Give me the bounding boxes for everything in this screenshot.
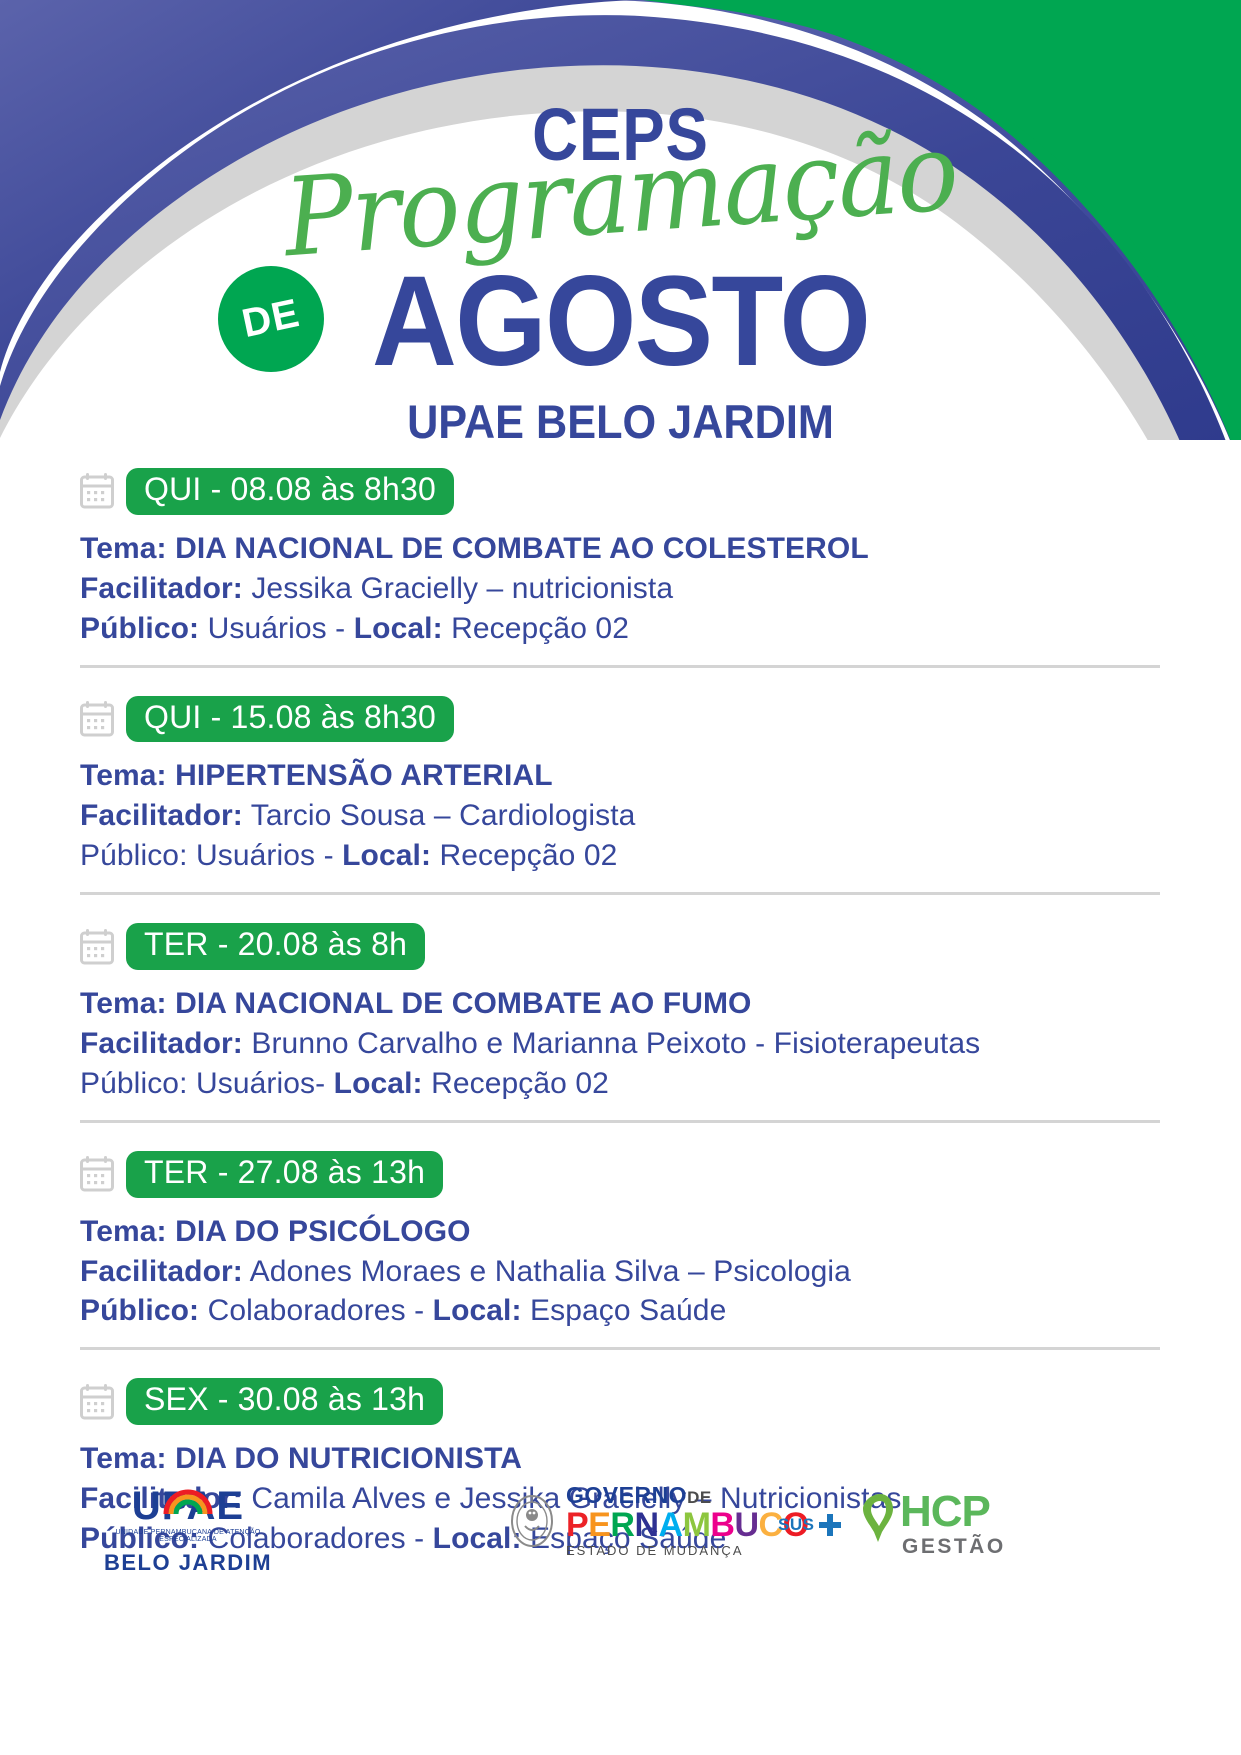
event-header: QUI - 08.08 às 8h30 (80, 468, 1160, 515)
governo-line1: GOVERNODE (566, 1484, 809, 1507)
publico-label: Público: (80, 1294, 199, 1327)
publico-label: Público: (80, 612, 199, 645)
upae-wordmark: UPAE (132, 1486, 244, 1526)
pernambuco-letter: N (634, 1506, 658, 1544)
event-item: QUI - 15.08 às 8h30 Tema: HIPERTENSÃO AR… (80, 696, 1160, 924)
local-value: Espaço Saúde (530, 1294, 726, 1327)
upae-logo: UPAE UNIDADE PERNAMBUCANA DE ATENÇÃO ESP… (88, 1486, 288, 1574)
event-item: QUI - 08.08 às 8h30 Tema: DIA NACIONAL D… (80, 468, 1160, 696)
unit-name: UPAE BELO JARDIM (50, 398, 1192, 445)
governo-slogan: ESTADO DE MUDANÇA (566, 1544, 809, 1557)
governo-pernambuco-logo: GOVERNODE PERNAMBUCO ESTADO DE MUDANÇA (508, 1484, 809, 1557)
event-header: TER - 20.08 às 8h (80, 923, 1160, 970)
local-value: Recepção 02 (440, 839, 618, 872)
calendar-icon (80, 1384, 114, 1420)
pernambuco-letter: M (683, 1506, 711, 1544)
publico-label: Público: (80, 839, 188, 872)
hcp-wordmark: HCP (900, 1490, 1006, 1534)
event-facilitador-line: Facilitador: Adones Moraes e Nathalia Si… (80, 1252, 1160, 1292)
event-tema-line: Tema: DIA NACIONAL DE COMBATE AO COLESTE… (80, 529, 1160, 569)
event-publico-line: Público: Usuários - Local: Recepção 02 (80, 609, 1160, 649)
event-divider (80, 1120, 1160, 1123)
tema-label: Tema: (80, 987, 167, 1020)
calendar-icon (80, 1156, 114, 1192)
pernambuco-letter: R (610, 1506, 634, 1544)
facilitador-value: Jessika Gracielly – nutricionista (251, 572, 673, 605)
tema-value: DIA NACIONAL DE COMBATE AO FUMO (175, 987, 751, 1020)
state-seal-icon (508, 1493, 556, 1549)
governo-word: GOVERNO (566, 1482, 687, 1508)
event-header: TER - 27.08 às 13h (80, 1151, 1160, 1198)
event-facilitador-line: Facilitador: Tarcio Sousa – Cardiologist… (80, 796, 1160, 836)
event-publico-line: Público: Usuários- Local: Recepção 02 (80, 1064, 1160, 1104)
governo-de: DE (687, 1488, 712, 1507)
tema-label: Tema: (80, 1442, 167, 1475)
tema-label: Tema: (80, 532, 167, 565)
local-value: Recepção 02 (431, 1067, 609, 1100)
event-tema-line: Tema: DIA DO NUTRICIONISTA (80, 1439, 1160, 1479)
event-item: TER - 20.08 às 8h Tema: DIA NACIONAL DE … (80, 923, 1160, 1151)
event-header: QUI - 15.08 às 8h30 (80, 696, 1160, 743)
calendar-icon (80, 473, 114, 509)
event-date-pill: SEX - 30.08 às 13h (126, 1378, 443, 1425)
pernambuco-letter: E (588, 1506, 610, 1544)
tema-value: DIA DO NUTRICIONISTA (175, 1442, 522, 1475)
tema-value: DIA DO PSICÓLOGO (175, 1215, 471, 1248)
pernambuco-letter: P (566, 1506, 588, 1544)
facilitador-label: Facilitador: (80, 1027, 243, 1060)
facilitador-value: Adones Moraes e Nathalia Silva – Psicolo… (250, 1255, 851, 1288)
calendar-icon (80, 929, 114, 965)
event-divider (80, 892, 1160, 895)
local-label: Local: (354, 612, 443, 645)
upae-tagline: UNIDADE PERNAMBUCANA DE ATENÇÃO ESPECIAL… (88, 1529, 288, 1543)
event-facilitador-line: Facilitador: Jessika Gracielly – nutrici… (80, 569, 1160, 609)
tema-label: Tema: (80, 1215, 167, 1248)
poster-header: CEPS Programação DE AGOSTO UPAE BELO JAR… (0, 0, 1241, 460)
facilitador-value: Brunno Carvalho e Marianna Peixoto - Fis… (251, 1027, 980, 1060)
local-value: Recepção 02 (451, 612, 629, 645)
sus-logo: SUS (778, 1512, 843, 1538)
pernambuco-letter: B (710, 1506, 734, 1544)
sus-label: SUS (778, 1515, 814, 1535)
publico-value: Colaboradores - (208, 1294, 433, 1327)
event-date-pill: QUI - 08.08 às 8h30 (126, 468, 454, 515)
event-date-pill: TER - 27.08 às 13h (126, 1151, 443, 1198)
event-publico-line: Público: Colaboradores - Local: Espaço S… (80, 1291, 1160, 1331)
event-tema-line: Tema: HIPERTENSÃO ARTERIAL (80, 756, 1160, 796)
tema-label: Tema: (80, 759, 167, 792)
local-label: Local: (433, 1294, 522, 1327)
local-label: Local: (342, 839, 431, 872)
publico-value: Usuários- (196, 1067, 334, 1100)
pernambuco-letter: U (734, 1506, 758, 1544)
ribbon-icon (862, 1492, 898, 1544)
footer-logos: UPAE UNIDADE PERNAMBUCANA DE ATENÇÃO ESP… (0, 1478, 1241, 1598)
event-item: TER - 27.08 às 13h Tema: DIA DO PSICÓLOG… (80, 1151, 1160, 1379)
tema-value: HIPERTENSÃO ARTERIAL (175, 759, 553, 792)
event-divider (80, 1347, 1160, 1350)
tema-value: DIA NACIONAL DE COMBATE AO COLESTEROL (175, 532, 869, 565)
event-date-pill: TER - 20.08 às 8h (126, 923, 425, 970)
events-list: QUI - 08.08 às 8h30 Tema: DIA NACIONAL D… (80, 468, 1160, 1573)
governo-text: GOVERNODE PERNAMBUCO ESTADO DE MUDANÇA (566, 1484, 809, 1557)
pernambuco-letter: A (659, 1506, 683, 1544)
event-tema-line: Tema: DIA DO PSICÓLOGO (80, 1212, 1160, 1252)
facilitador-value: Tarcio Sousa – Cardiologista (251, 799, 636, 832)
publico-value: Usuários - (208, 612, 354, 645)
event-header: SEX - 30.08 às 13h (80, 1378, 1160, 1425)
facilitador-label: Facilitador: (80, 572, 243, 605)
publico-value: Usuários - (196, 839, 342, 872)
event-date-pill: QUI - 15.08 às 8h30 (126, 696, 454, 743)
hcp-subtitle: GESTÃO (902, 1536, 1006, 1557)
pernambuco-wordmark: PERNAMBUCO (566, 1508, 809, 1542)
month-title: AGOSTO (50, 258, 1192, 386)
rainbow-arc-icon (162, 1488, 214, 1514)
publico-label: Público: (80, 1067, 188, 1100)
facilitador-label: Facilitador: (80, 1255, 243, 1288)
event-tema-line: Tema: DIA NACIONAL DE COMBATE AO FUMO (80, 984, 1160, 1024)
cross-icon (817, 1512, 843, 1538)
hcp-gestao-logo: HCP GESTÃO (862, 1490, 1006, 1557)
local-label: Local: (334, 1067, 423, 1100)
facilitador-label: Facilitador: (80, 799, 243, 832)
hcp-text: HCP GESTÃO (900, 1490, 1006, 1557)
event-divider (80, 665, 1160, 668)
upae-city: BELO JARDIM (88, 1552, 288, 1574)
event-publico-line: Público: Usuários - Local: Recepção 02 (80, 836, 1160, 876)
poster-root: CEPS Programação DE AGOSTO UPAE BELO JAR… (0, 0, 1241, 1755)
event-facilitador-line: Facilitador: Brunno Carvalho e Marianna … (80, 1024, 1160, 1064)
calendar-icon (80, 701, 114, 737)
